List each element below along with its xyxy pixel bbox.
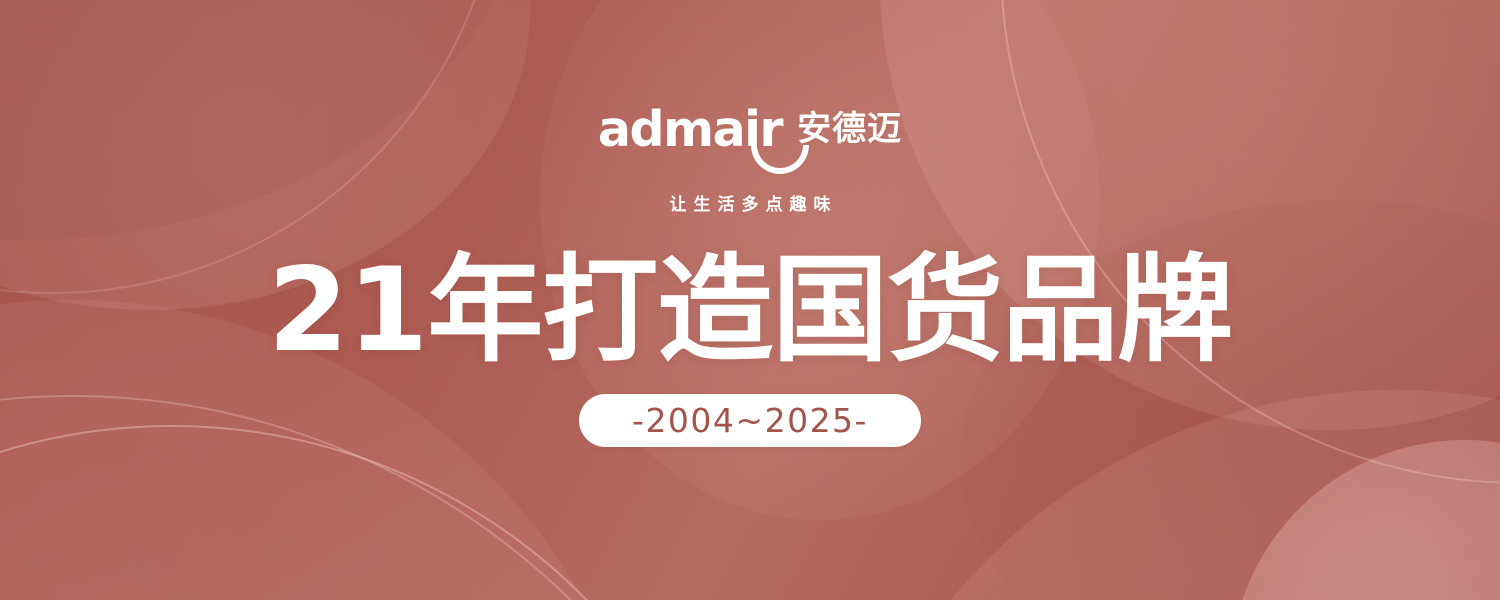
promotional-banner: admair 安德迈 让生活多点趣味 21年打造国货品牌 -2004~2025- xyxy=(0,0,1500,600)
year-range-badge: -2004~2025- xyxy=(579,394,921,447)
brand-tagline: 让生活多点趣味 xyxy=(663,190,838,215)
year-range-label: -2004~2025- xyxy=(632,404,868,437)
brand-logo-lockup: admair 安德迈 xyxy=(598,101,902,153)
smile-arc-icon xyxy=(751,145,809,174)
banner-content: admair 安德迈 让生活多点趣味 21年打造国货品牌 -2004~2025- xyxy=(0,0,1500,600)
headline-text: 21年打造国货品牌 xyxy=(268,252,1232,370)
brand-name-chinese: 安德迈 xyxy=(797,101,902,153)
